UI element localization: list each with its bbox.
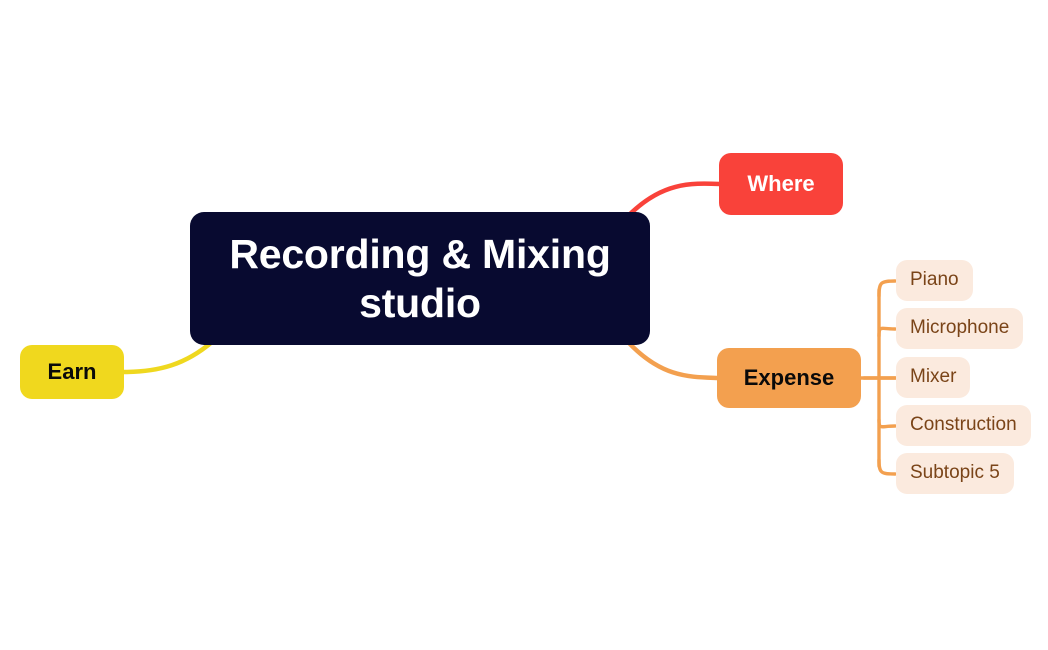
leaf-node-piano[interactable]: Piano [896, 260, 973, 301]
connector-to-piano [879, 281, 895, 296]
connector-expense-subtree [861, 281, 896, 474]
branch-node-where[interactable]: Where [719, 153, 843, 215]
connector-to-subtopic-5 [879, 460, 895, 474]
leaf-node-mixer[interactable]: Mixer [896, 357, 970, 398]
connector-to-construction [879, 420, 895, 427]
leaf-node-subtopic-5-label: Subtopic 5 [910, 462, 1000, 484]
leaf-node-subtopic-5[interactable]: Subtopic 5 [896, 453, 1014, 494]
leaf-node-microphone-label: Microphone [910, 317, 1009, 339]
connector-to-microphone [879, 328, 895, 336]
leaf-node-construction-label: Construction [910, 414, 1017, 436]
connector-earn-to-root [123, 342, 212, 372]
connector-root-to-expense [628, 342, 718, 378]
connector-root-to-where [628, 184, 720, 216]
root-node-label: Recording & Mixing studio [229, 230, 610, 327]
root-node-label-line2: studio [229, 279, 610, 327]
mindmap-canvas: Recording & Mixing studio Where Earn Exp… [0, 0, 1048, 650]
branch-node-expense[interactable]: Expense [717, 348, 861, 408]
leaf-node-construction[interactable]: Construction [896, 405, 1031, 446]
root-node-label-line1: Recording & Mixing [229, 230, 610, 278]
leaf-node-mixer-label: Mixer [910, 366, 956, 388]
branch-node-where-label: Where [747, 171, 814, 197]
branch-node-earn[interactable]: Earn [20, 345, 124, 399]
leaf-node-microphone[interactable]: Microphone [896, 308, 1023, 349]
leaf-node-piano-label: Piano [910, 269, 959, 291]
branch-node-expense-label: Expense [744, 365, 835, 391]
branch-node-earn-label: Earn [48, 359, 97, 385]
root-node[interactable]: Recording & Mixing studio [190, 212, 650, 345]
